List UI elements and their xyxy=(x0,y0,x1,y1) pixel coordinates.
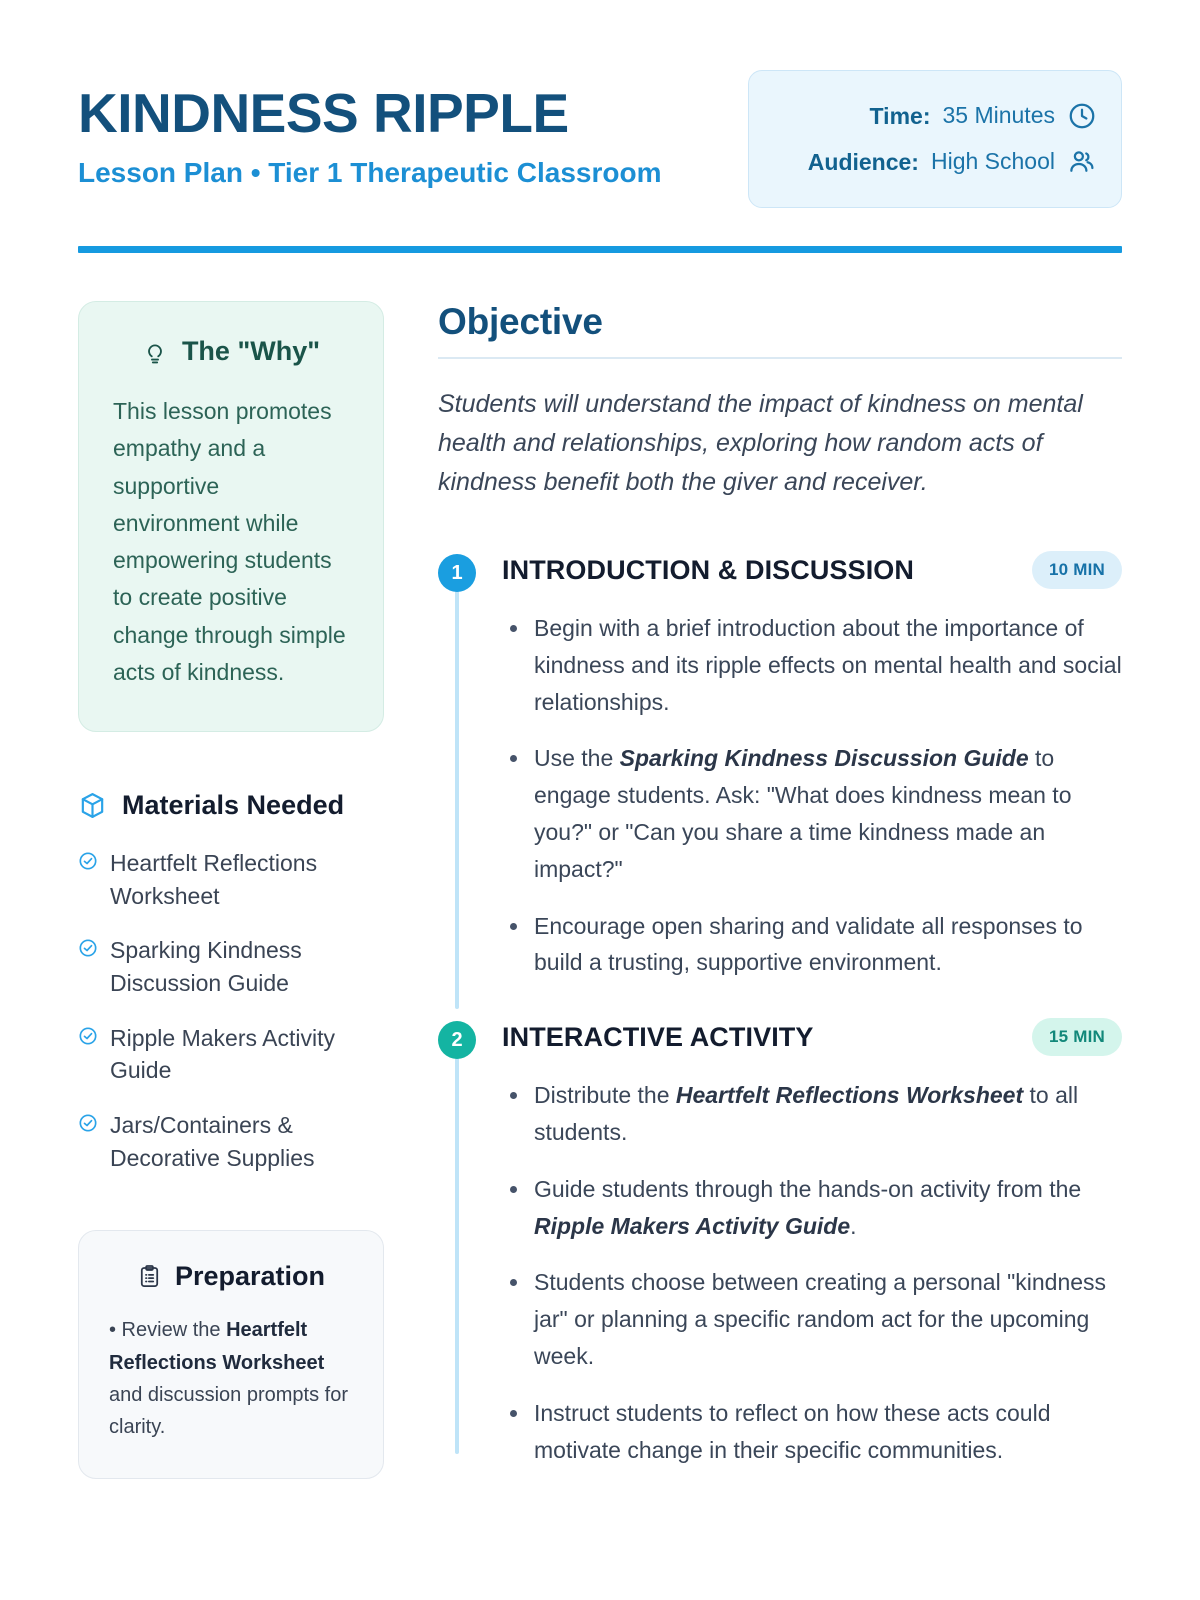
step-title: INTERACTIVE ACTIVITY xyxy=(502,1022,814,1053)
list-item: Students choose between creating a perso… xyxy=(502,1264,1122,1374)
why-header: The "Why" xyxy=(113,336,349,367)
objective-title: Objective xyxy=(438,301,1122,343)
preparation-title: Preparation xyxy=(175,1261,325,1292)
timeline-connector xyxy=(455,1055,459,1454)
step-bullet-list: Distribute the Heartfelt Reflections Wor… xyxy=(502,1077,1122,1468)
clock-icon xyxy=(1067,101,1097,131)
steps-timeline: 1 INTRODUCTION & DISCUSSION 10 MIN Begin… xyxy=(438,548,1122,1468)
list-item: Begin with a brief introduction about th… xyxy=(502,610,1122,720)
audience-value: High School xyxy=(931,147,1055,176)
prep-suffix: and discussion prompts for clarity. xyxy=(109,1384,348,1438)
why-text: This lesson promotes empathy and a suppo… xyxy=(113,393,349,691)
why-card: The "Why" This lesson promotes empathy a… xyxy=(78,301,384,732)
bullet-text: Guide students through the hands-on acti… xyxy=(534,1176,1081,1202)
duration-badge: 10 MIN xyxy=(1032,551,1122,589)
materials-section: Materials Needed Heartfelt Reflections W… xyxy=(78,790,384,1174)
bullet-text: Use the xyxy=(534,745,620,771)
list-item: Encourage open sharing and validate all … xyxy=(502,908,1122,982)
body-grid: The "Why" This lesson promotes empathy a… xyxy=(78,301,1122,1479)
preparation-header: Preparation xyxy=(109,1261,353,1292)
material-label: Heartfelt Reflections Worksheet xyxy=(110,847,384,912)
why-title: The "Why" xyxy=(182,336,320,367)
users-icon xyxy=(1067,147,1097,177)
step-1: 1 INTRODUCTION & DISCUSSION 10 MIN Begin… xyxy=(438,548,1122,1015)
list-item: Heartfelt Reflections Worksheet xyxy=(78,847,384,912)
bullet-text: Distribute the xyxy=(534,1082,676,1108)
step-header: INTERACTIVE ACTIVITY 15 MIN xyxy=(502,1015,1122,1059)
meta-row-audience: Audience: High School xyxy=(773,139,1097,185)
step-title: INTRODUCTION & DISCUSSION xyxy=(502,555,914,586)
lesson-meta-box: Time: 35 Minutes Audience: High School xyxy=(748,70,1122,208)
objective-text: Students will understand the impact of k… xyxy=(438,385,1122,502)
time-label: Time: xyxy=(870,103,931,130)
header-divider xyxy=(78,246,1122,253)
list-item: Ripple Makers Activity Guide xyxy=(78,1022,384,1087)
bullet-emphasis: Ripple Makers Activity Guide xyxy=(534,1213,850,1239)
bullet-text: Encourage open sharing and validate all … xyxy=(534,913,1083,976)
document-header: KINDNESS RIPPLE Lesson Plan • Tier 1 The… xyxy=(78,70,1122,208)
bullet-emphasis: Sparking Kindness Discussion Guide xyxy=(620,745,1029,771)
step-bullet-list: Begin with a brief introduction about th… xyxy=(502,610,1122,981)
material-label: Jars/Containers & Decorative Supplies xyxy=(110,1109,384,1174)
bullet-text: Begin with a brief introduction about th… xyxy=(534,615,1122,715)
list-item: Use the Sparking Kindness Discussion Gui… xyxy=(502,740,1122,887)
main-content: Objective Students will understand the i… xyxy=(438,301,1122,1479)
bullet-text: Instruct students to reflect on how thes… xyxy=(534,1400,1051,1463)
page-title: KINDNESS RIPPLE xyxy=(78,84,661,142)
step-number-badge: 1 xyxy=(438,554,476,592)
materials-title: Materials Needed xyxy=(122,790,344,821)
title-block: KINDNESS RIPPLE Lesson Plan • Tier 1 The… xyxy=(78,70,661,192)
audience-label: Audience: xyxy=(808,149,919,176)
list-item: Jars/Containers & Decorative Supplies xyxy=(78,1109,384,1174)
circle-check-icon xyxy=(78,938,98,963)
materials-header: Materials Needed xyxy=(78,790,384,821)
list-item: Guide students through the hands-on acti… xyxy=(502,1171,1122,1245)
prep-prefix: • Review the xyxy=(109,1319,226,1341)
timeline-connector xyxy=(455,588,459,1009)
preparation-card: Preparation • Review the Heartfelt Refle… xyxy=(78,1230,384,1479)
page-subtitle: Lesson Plan • Tier 1 Therapeutic Classro… xyxy=(78,154,661,191)
materials-list: Heartfelt Reflections Worksheet Sparking… xyxy=(78,847,384,1174)
preparation-text: • Review the Heartfelt Reflections Works… xyxy=(109,1314,353,1444)
list-item: Distribute the Heartfelt Reflections Wor… xyxy=(502,1077,1122,1151)
sidebar: The "Why" This lesson promotes empathy a… xyxy=(78,301,384,1479)
lesson-plan-page: KINDNESS RIPPLE Lesson Plan • Tier 1 The… xyxy=(0,0,1200,1600)
step-number-badge: 2 xyxy=(438,1021,476,1059)
bullet-text: . xyxy=(850,1213,856,1239)
list-item: Sparking Kindness Discussion Guide xyxy=(78,934,384,999)
step-header: INTRODUCTION & DISCUSSION 10 MIN xyxy=(502,548,1122,592)
lightbulb-icon xyxy=(142,339,168,365)
material-label: Sparking Kindness Discussion Guide xyxy=(110,934,384,999)
material-label: Ripple Makers Activity Guide xyxy=(110,1022,384,1087)
bullet-text: Students choose between creating a perso… xyxy=(534,1269,1106,1369)
circle-check-icon xyxy=(78,1026,98,1051)
circle-check-icon xyxy=(78,851,98,876)
duration-badge: 15 MIN xyxy=(1032,1018,1122,1056)
objective-divider xyxy=(438,357,1122,359)
meta-row-time: Time: 35 Minutes xyxy=(773,93,1097,139)
step-2: 2 INTERACTIVE ACTIVITY 15 MIN Distribute… xyxy=(438,1015,1122,1468)
package-icon xyxy=(78,791,107,820)
circle-check-icon xyxy=(78,1113,98,1138)
bullet-emphasis: Heartfelt Reflections Worksheet xyxy=(676,1082,1023,1108)
clipboard-icon xyxy=(137,1264,162,1289)
list-item: Instruct students to reflect on how thes… xyxy=(502,1395,1122,1469)
time-value: 35 Minutes xyxy=(942,101,1055,130)
